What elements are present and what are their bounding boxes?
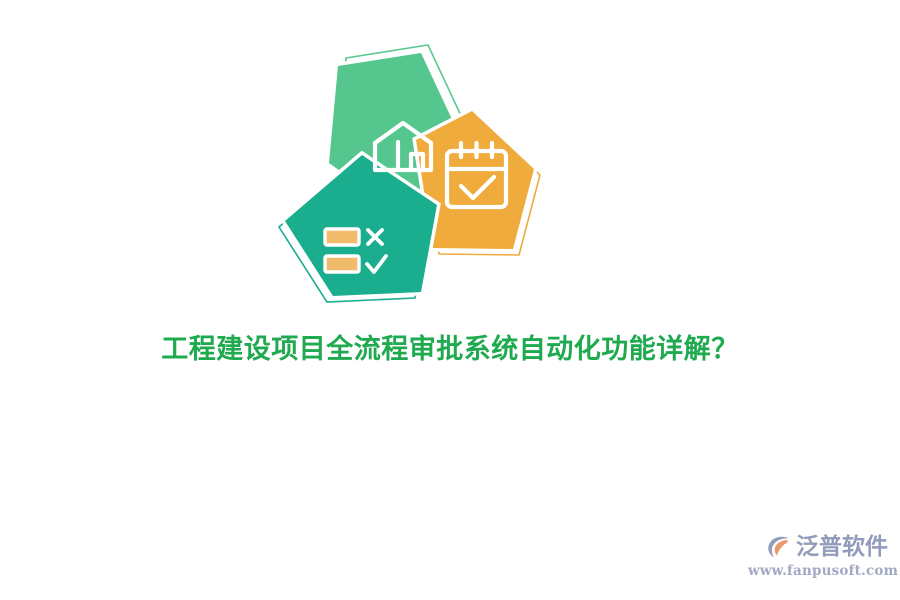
hero-illustration — [255, 30, 575, 320]
page-title: 工程建设项目全流程审批系统自动化功能详解？ — [0, 330, 900, 370]
brand-watermark: 泛普软件 www.fanpusoft.com — [748, 532, 888, 588]
brand-row: 泛普软件 — [748, 532, 888, 562]
brand-url: www.fanpusoft.com — [748, 562, 888, 580]
brand-name: 泛普软件 — [796, 534, 888, 560]
page-canvas: 工程建设项目全流程审批系统自动化功能详解？ 泛普软件 www.fanpusoft… — [0, 0, 900, 600]
fanpu-logo-icon — [766, 534, 792, 560]
